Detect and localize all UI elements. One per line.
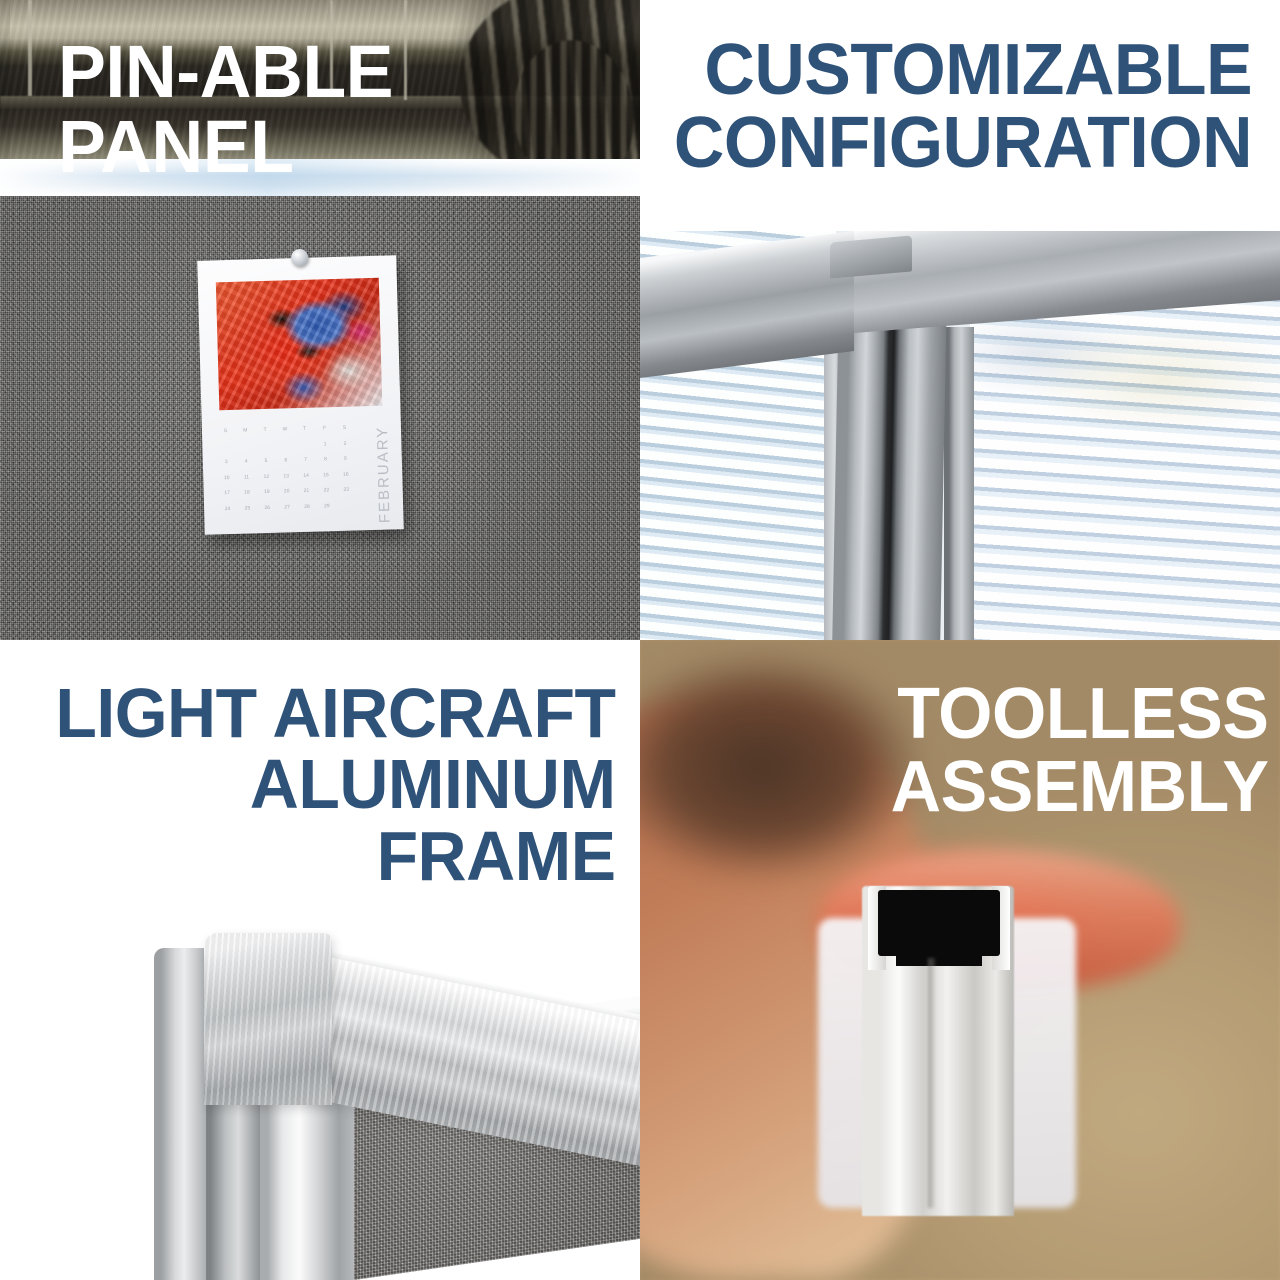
calendar-day-cell: 20 (277, 488, 296, 503)
panel-light-aircraft-aluminum-frame: LIGHT AIRCRAFT ALUMINUM FRAME (0, 640, 640, 1280)
push-pin-icon (291, 249, 308, 266)
calendar-day-cell: 12 (257, 473, 276, 488)
calendar-day-cell: 17 (218, 490, 237, 505)
calendar-weekday-header: F (315, 425, 334, 440)
aluminum-post-rear (154, 948, 206, 1280)
calendar-day-cell: 26 (258, 504, 277, 519)
extrusion-groove (928, 958, 935, 1208)
calendar-artwork (216, 278, 383, 411)
calendar-day-cell: 16 (336, 471, 355, 486)
caption-toolless-assembly: TOOLLESS ASSEMBLY (890, 678, 1268, 825)
calendar-day-cell: 18 (237, 489, 256, 504)
frame-mullion-right (944, 327, 974, 640)
calendar-day-cell: 11 (237, 474, 256, 489)
calendar-day-cell: 15 (316, 472, 335, 487)
calendar-day-cell (236, 443, 255, 458)
calendar-weekday-header: T (256, 427, 275, 442)
calendar-weekday-header: S (335, 425, 354, 440)
calendar-date-grid: SMTWTFS123456789101112131415161718192021… (216, 425, 357, 521)
calendar-day-cell: 3 (217, 459, 236, 474)
calendar-day-cell: 6 (276, 457, 295, 472)
calendar-day-cell: 1 (316, 441, 335, 456)
calendar-day-cell: 8 (316, 456, 335, 471)
calendar-weekday-header: W (275, 426, 294, 441)
post-end-cap (830, 235, 912, 278)
caption-customizable-configuration: CUSTOMIZABLE CONFIGURATION (674, 34, 1252, 181)
calendar-day-cell: 22 (317, 487, 336, 502)
calendar-day-cell: 14 (297, 472, 316, 487)
calendar-day-cell: 19 (257, 489, 276, 504)
calendar-weekday-header: M (236, 427, 255, 442)
extrusion-channel-cavity (878, 890, 1000, 956)
calendar-day-cell: 25 (238, 505, 257, 520)
calendar-day-cell: 23 (337, 486, 356, 501)
calendar-day-cell: 10 (217, 474, 236, 489)
aluminum-corner-bracket (204, 933, 332, 1105)
calendar-day-cell: 27 (278, 504, 297, 519)
calendar-day-cell: 29 (317, 503, 336, 518)
caption-pin-able-panel: PIN-ABLE PANEL (58, 34, 623, 185)
ceiling-hanger-rod (28, 0, 32, 96)
frame-window-photo (640, 231, 1280, 640)
calendar-day-cell (337, 502, 356, 517)
calendar-day-cell (296, 441, 315, 456)
panel-pin-able: SMTWTFS123456789101112131415161718192021… (0, 0, 640, 640)
calendar-day-cell: 28 (297, 503, 316, 518)
calendar-day-cell: 7 (296, 457, 315, 472)
pinned-calendar: SMTWTFS123456789101112131415161718192021… (197, 255, 404, 534)
panel-toolless-assembly: TOOLLESS ASSEMBLY (640, 640, 1280, 1280)
calendar-day-cell: 21 (297, 488, 316, 503)
feature-collage: SMTWTFS123456789101112131415161718192021… (0, 0, 1280, 1280)
calendar-day-cell: 2 (335, 440, 354, 455)
calendar-month-label: FEBRUARY (374, 425, 394, 523)
calendar-weekday-header: T (295, 426, 314, 441)
calendar-day-cell: 9 (336, 456, 355, 471)
calendar-day-cell: 13 (277, 473, 296, 488)
caption-light-aircraft-aluminum-frame: LIGHT AIRCRAFT ALUMINUM FRAME (56, 678, 616, 892)
panel-customizable-configuration: CUSTOMIZABLE CONFIGURATION (640, 0, 1280, 640)
calendar-day-cell (276, 442, 295, 457)
calendar-day-cell: 24 (218, 505, 237, 520)
calendar-weekday-header: S (216, 428, 235, 443)
calendar-day-cell (216, 443, 235, 458)
calendar-day-cell (256, 442, 275, 457)
calendar-day-cell: 4 (237, 458, 256, 473)
calendar-day-cell: 5 (256, 458, 275, 473)
